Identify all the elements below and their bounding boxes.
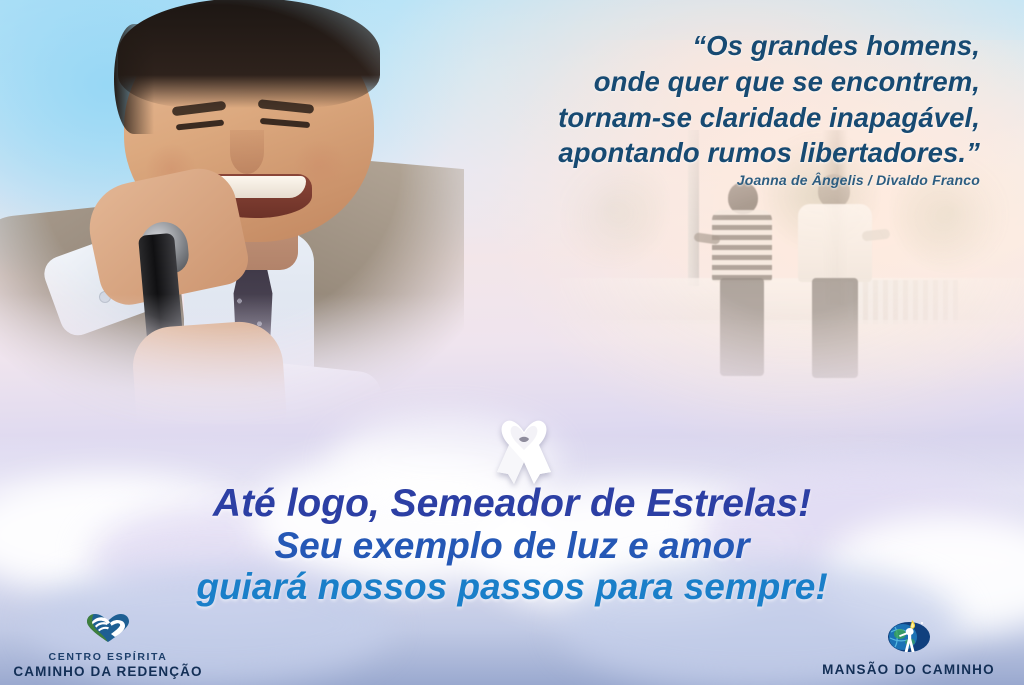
headline-line-3: guiará nossos passos para sempre! bbox=[0, 568, 1024, 606]
quote-line-4: apontando rumos libertadores.” bbox=[420, 135, 980, 171]
globe-figure-flame-icon bbox=[801, 616, 1016, 659]
quote-line-2: onde quer que se encontrem, bbox=[420, 64, 980, 100]
quote-attribution: Joanna de Ângelis / Divaldo Franco bbox=[420, 172, 980, 188]
portrait-hair bbox=[118, 0, 380, 108]
quote-text: “Os grandes homens, onde quer que se enc… bbox=[420, 28, 980, 171]
logo-right-line-1: MANSÃO DO CAMINHO bbox=[801, 662, 1016, 677]
logo-mansao-do-caminho[interactable]: MANSÃO DO CAMINHO bbox=[801, 616, 1016, 677]
background-ground bbox=[560, 320, 1024, 430]
headline-line-1: Até logo, Semeador de Estrelas! bbox=[0, 484, 1024, 524]
background-figure-white-shirt bbox=[798, 174, 872, 374]
mourning-ribbon-icon bbox=[487, 412, 561, 488]
headline-line-2: Seu exemplo de luz e amor bbox=[0, 527, 1024, 565]
logo-centro-espirita[interactable]: CENTRO ESPÍRITA CAMINHO DA REDENÇÃO bbox=[8, 613, 208, 679]
quote-line-3: tornam-se claridade inapagável, bbox=[420, 100, 980, 136]
logo-left-line-1: CENTRO ESPÍRITA bbox=[8, 651, 208, 663]
logo-left-line-2: CAMINHO DA REDENÇÃO bbox=[8, 664, 208, 679]
background-figure-striped-shirt bbox=[710, 182, 774, 372]
portrait-photo bbox=[0, 0, 464, 424]
heart-hands-icon bbox=[8, 613, 208, 648]
quote-line-1: “Os grandes homens, bbox=[420, 28, 980, 64]
tribute-banner: “Os grandes homens, onde quer que se enc… bbox=[0, 0, 1024, 685]
headline-block: Até logo, Semeador de Estrelas! Seu exem… bbox=[0, 484, 1024, 606]
